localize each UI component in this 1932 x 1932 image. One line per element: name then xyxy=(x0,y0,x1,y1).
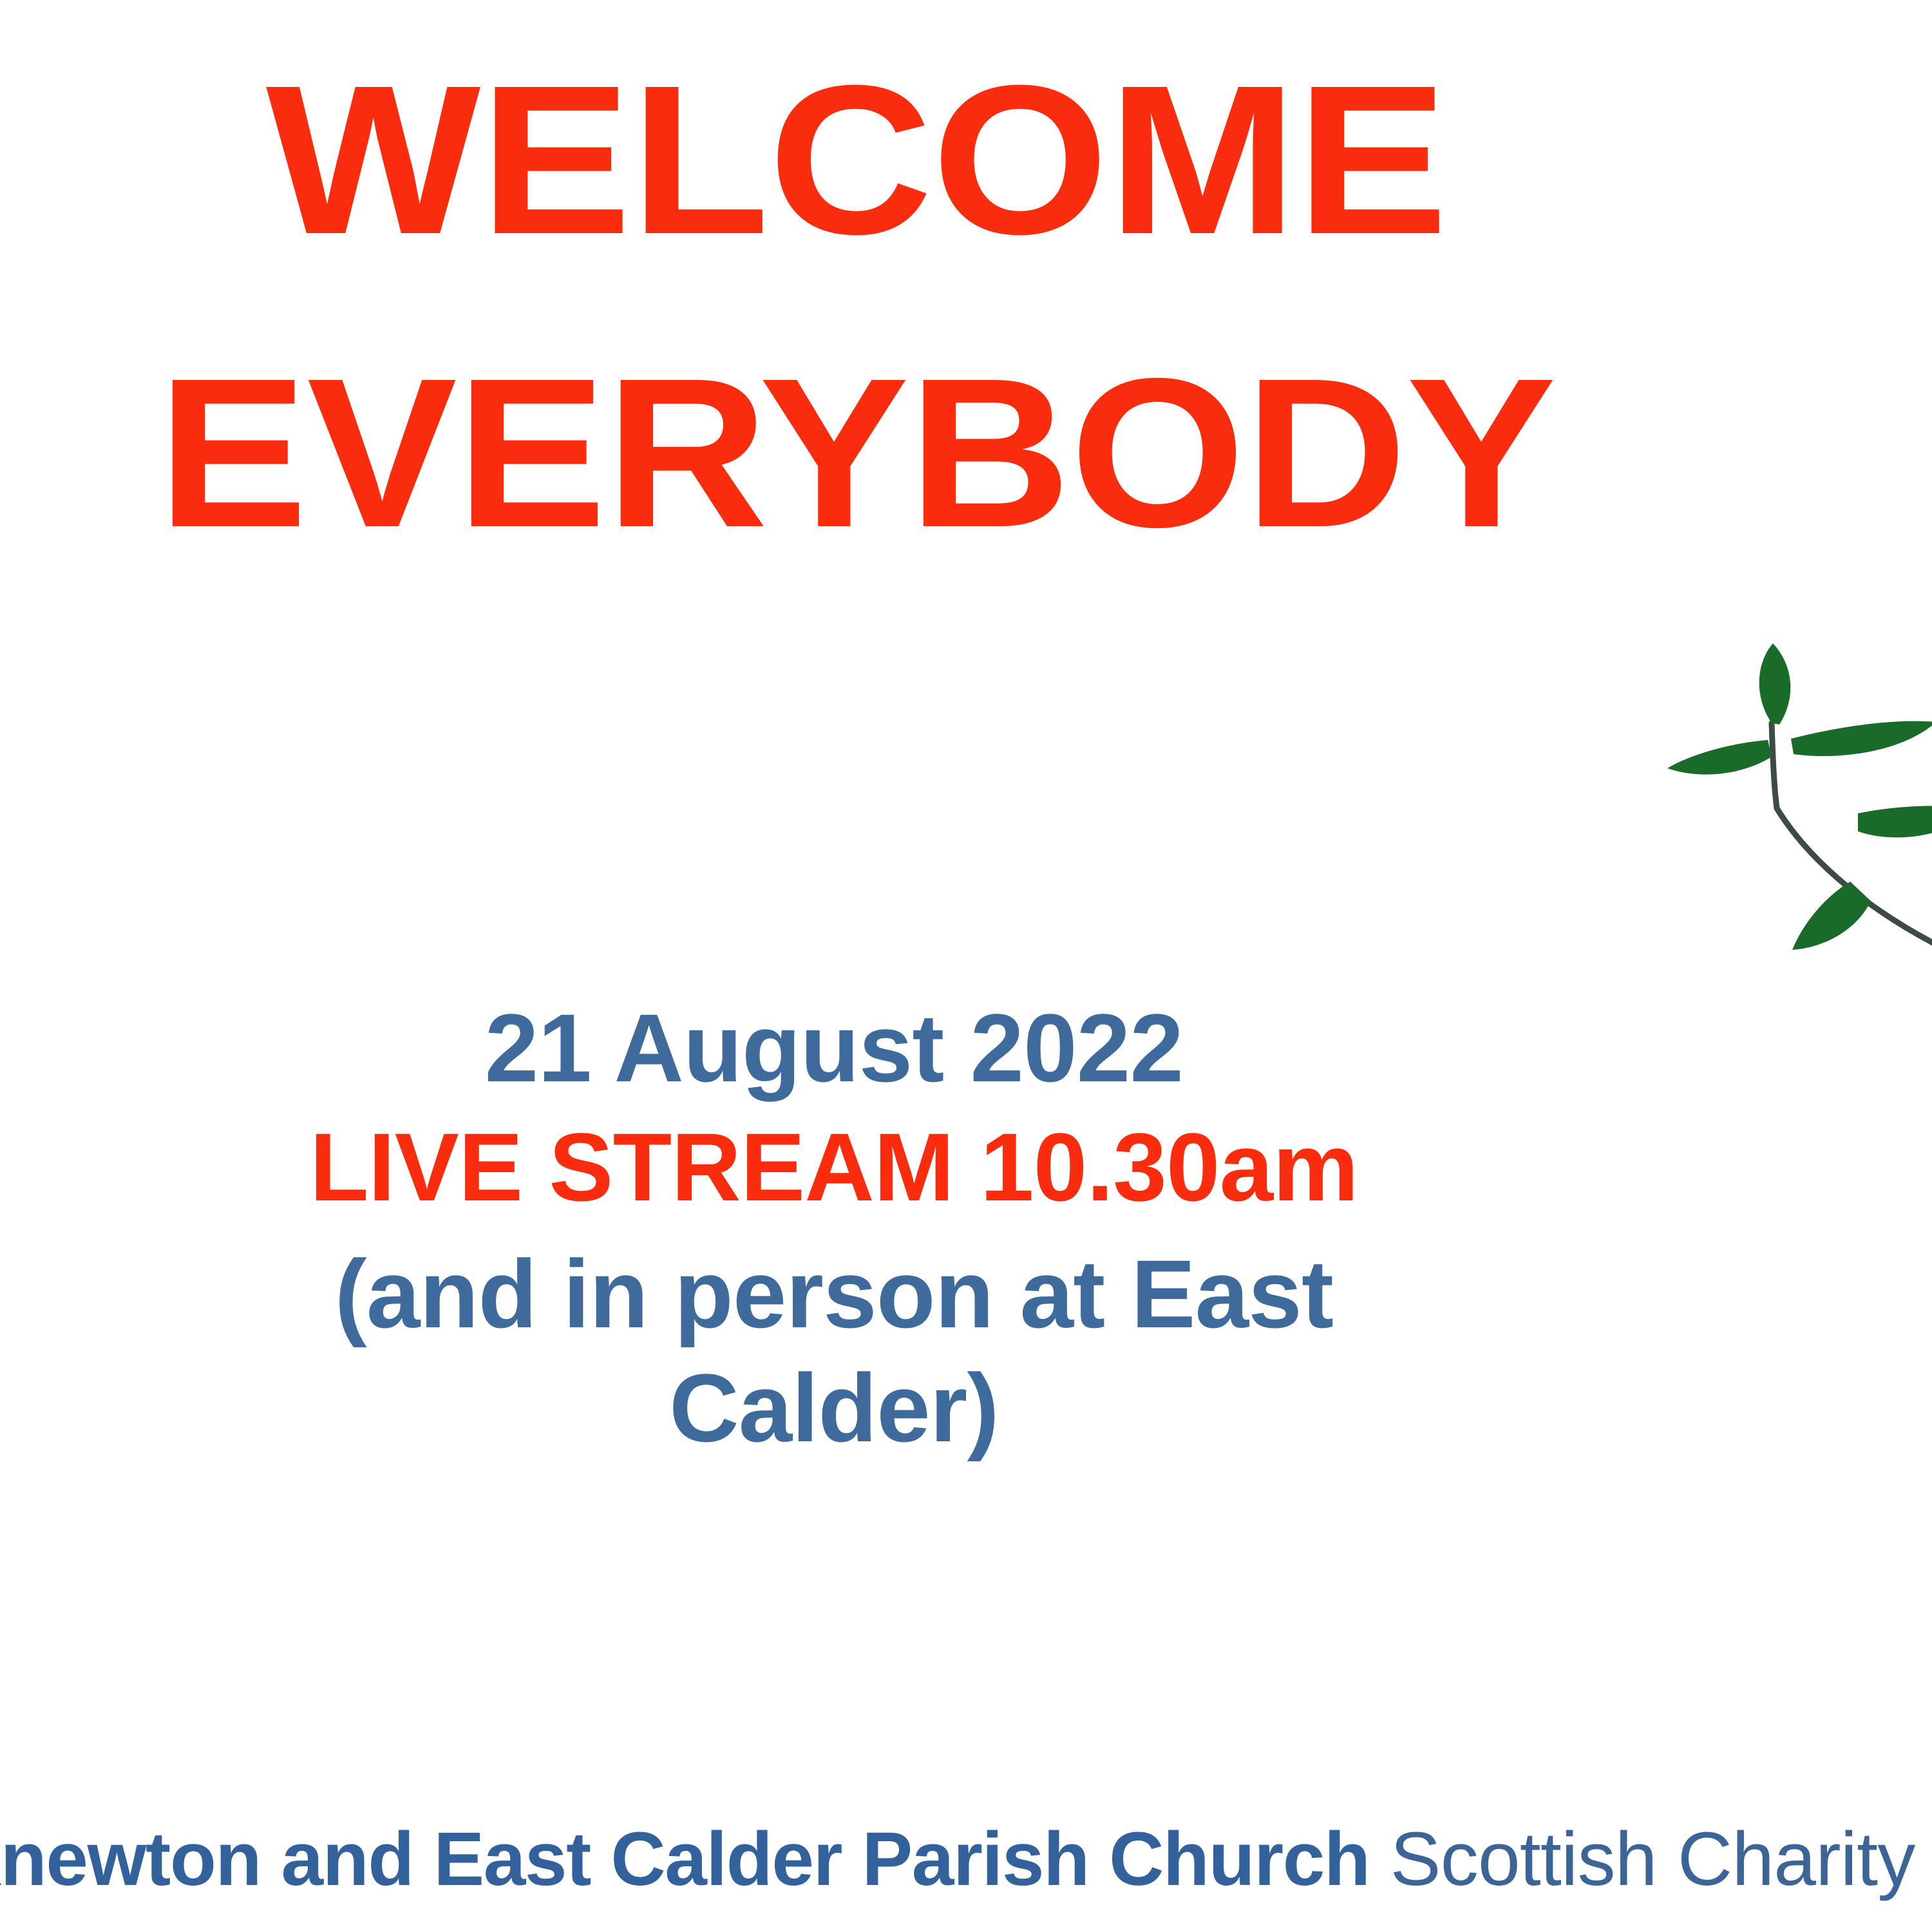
footer-text: rknewton and East Calder Parish Church S… xyxy=(0,1821,1932,1897)
headline-line-welcome: WELCOME xyxy=(0,58,1773,262)
live-stream-time: LIVE STREAM 10.30am xyxy=(116,1114,1552,1220)
footer-charity: Scottish Charity xyxy=(1370,1817,1915,1902)
headline-line-everybody: EVERYBODY xyxy=(0,351,1765,555)
footer-organisation: rknewton and East Calder Parish Church xyxy=(0,1817,1370,1902)
headline-block: WELCOME EVERYBODY xyxy=(0,58,1713,555)
service-date: 21 August 2022 xyxy=(116,995,1552,1101)
leaf-sprig-icon xyxy=(1645,615,1932,1195)
footer-strip: rknewton and East Calder Parish Church S… xyxy=(0,1739,1932,1932)
welcome-slide: WELCOME EVERYBODY 21 xyxy=(0,0,1932,1932)
venue-note: (and in person at East Calder) xyxy=(332,1237,1336,1465)
service-info-block: 21 August 2022 LIVE STREAM 10.30am (and … xyxy=(116,995,1552,1465)
